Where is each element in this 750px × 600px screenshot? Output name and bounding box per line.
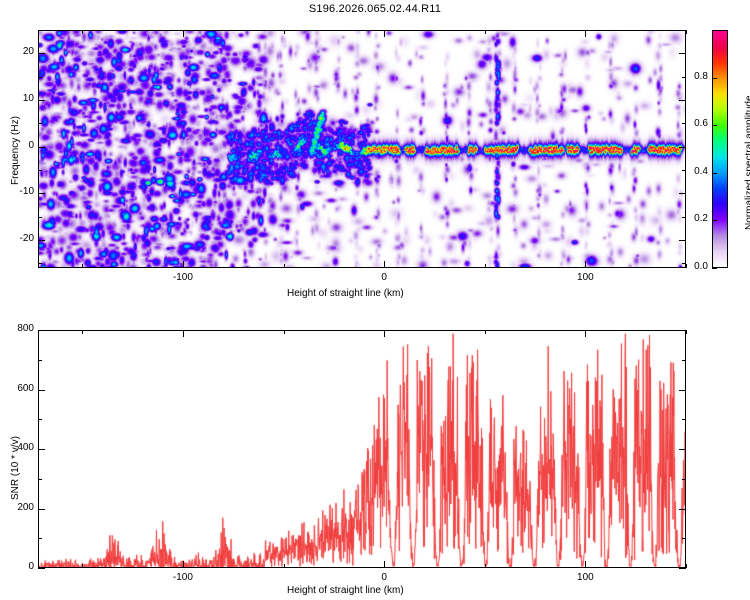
snr-xlabel: Height of straight line (km) bbox=[287, 585, 404, 596]
axis-tick bbox=[679, 449, 686, 450]
axis-tick bbox=[38, 123, 42, 124]
axis-tick bbox=[82, 264, 83, 268]
colorbar-tick bbox=[712, 173, 717, 174]
axis-tick bbox=[485, 564, 486, 568]
axis-tick bbox=[38, 263, 42, 264]
axis-tick bbox=[585, 561, 586, 568]
axis-tick-label: -10 bbox=[6, 186, 34, 197]
axis-tick-label: 100 bbox=[573, 572, 597, 583]
colorbar bbox=[712, 30, 728, 268]
colorbar-tick-label: 0.2 bbox=[686, 213, 708, 224]
axis-tick bbox=[183, 30, 184, 37]
axis-tick bbox=[38, 217, 42, 218]
colorbar-gradient bbox=[713, 31, 727, 267]
axis-tick bbox=[384, 261, 385, 268]
axis-tick bbox=[682, 479, 686, 480]
axis-tick bbox=[679, 147, 686, 148]
axis-tick-label: 20 bbox=[6, 46, 34, 57]
axis-tick-label: -100 bbox=[171, 572, 195, 583]
axis-tick bbox=[284, 564, 285, 568]
figure-title: S196.2026.065.02.44.R11 bbox=[0, 3, 750, 15]
axis-tick bbox=[38, 538, 42, 539]
axis-tick bbox=[686, 564, 687, 568]
axis-tick bbox=[284, 264, 285, 268]
axis-tick bbox=[679, 193, 686, 194]
axis-tick bbox=[38, 30, 42, 31]
colorbar-tick-label: 0.4 bbox=[686, 166, 708, 177]
colorbar-tick bbox=[712, 125, 717, 126]
axis-tick bbox=[38, 100, 45, 101]
spectrogram-xlabel: Height of straight line (km) bbox=[287, 288, 404, 299]
axis-tick bbox=[585, 330, 586, 337]
axis-tick bbox=[183, 261, 184, 268]
axis-tick bbox=[284, 30, 285, 34]
axis-tick bbox=[682, 30, 686, 31]
spectrogram-panel bbox=[38, 30, 686, 268]
axis-tick bbox=[38, 419, 42, 420]
axis-tick-label: 800 bbox=[6, 323, 34, 334]
axis-tick bbox=[384, 30, 385, 37]
axis-tick bbox=[38, 240, 45, 241]
axis-tick bbox=[485, 264, 486, 268]
axis-tick bbox=[38, 193, 45, 194]
snr-panel bbox=[38, 330, 686, 568]
axis-tick bbox=[38, 390, 45, 391]
axis-tick bbox=[485, 330, 486, 334]
figure-root: S196.2026.065.02.44.R11 -1000100-20-1001… bbox=[0, 0, 750, 600]
axis-tick bbox=[82, 330, 83, 334]
axis-tick bbox=[284, 330, 285, 334]
colorbar-label: Normalized spectral amplitude bbox=[744, 95, 750, 230]
axis-tick-label: 0 bbox=[6, 561, 34, 572]
axis-tick bbox=[585, 261, 586, 268]
axis-tick bbox=[384, 561, 385, 568]
axis-tick bbox=[682, 419, 686, 420]
axis-tick bbox=[686, 330, 687, 334]
spectrogram-ylabel: Frequency (Hz) bbox=[10, 116, 21, 185]
snr-canvas bbox=[39, 331, 686, 568]
axis-tick bbox=[679, 240, 686, 241]
axis-tick-label: 100 bbox=[573, 272, 597, 283]
axis-tick bbox=[679, 100, 686, 101]
axis-tick bbox=[679, 53, 686, 54]
axis-tick bbox=[679, 330, 686, 331]
axis-tick bbox=[686, 30, 687, 34]
axis-tick-label: 600 bbox=[6, 383, 34, 394]
axis-tick bbox=[38, 509, 45, 510]
axis-tick bbox=[585, 30, 586, 37]
colorbar-tick bbox=[712, 220, 717, 221]
axis-tick bbox=[679, 390, 686, 391]
axis-tick bbox=[682, 538, 686, 539]
axis-tick-label: 0 bbox=[372, 272, 396, 283]
axis-tick bbox=[682, 360, 686, 361]
axis-tick bbox=[38, 449, 45, 450]
colorbar-tick bbox=[712, 78, 717, 79]
axis-tick-label: -20 bbox=[6, 233, 34, 244]
axis-tick bbox=[38, 147, 45, 148]
spectrogram-canvas bbox=[39, 31, 686, 268]
axis-tick bbox=[82, 564, 83, 568]
axis-tick bbox=[183, 561, 184, 568]
colorbar-tick bbox=[712, 268, 717, 269]
axis-tick bbox=[38, 330, 45, 331]
axis-tick-label: 200 bbox=[6, 502, 34, 513]
axis-tick bbox=[38, 53, 45, 54]
axis-tick-label: -100 bbox=[171, 272, 195, 283]
axis-tick bbox=[38, 77, 42, 78]
axis-tick bbox=[38, 170, 42, 171]
axis-tick-label: 10 bbox=[6, 93, 34, 104]
colorbar-tick-label: 0.8 bbox=[686, 71, 708, 82]
snr-ylabel: SNR (10 * v/v) bbox=[10, 436, 21, 500]
axis-tick bbox=[38, 568, 45, 569]
axis-tick bbox=[183, 330, 184, 337]
colorbar-tick-label: 0.6 bbox=[686, 118, 708, 129]
axis-tick bbox=[384, 330, 385, 337]
axis-tick bbox=[679, 568, 686, 569]
colorbar-tick-label: 0.0 bbox=[686, 261, 708, 272]
axis-tick bbox=[38, 479, 42, 480]
axis-tick bbox=[679, 509, 686, 510]
axis-tick bbox=[82, 30, 83, 34]
axis-tick bbox=[38, 360, 42, 361]
axis-tick bbox=[485, 30, 486, 34]
axis-tick-label: 0 bbox=[372, 572, 396, 583]
